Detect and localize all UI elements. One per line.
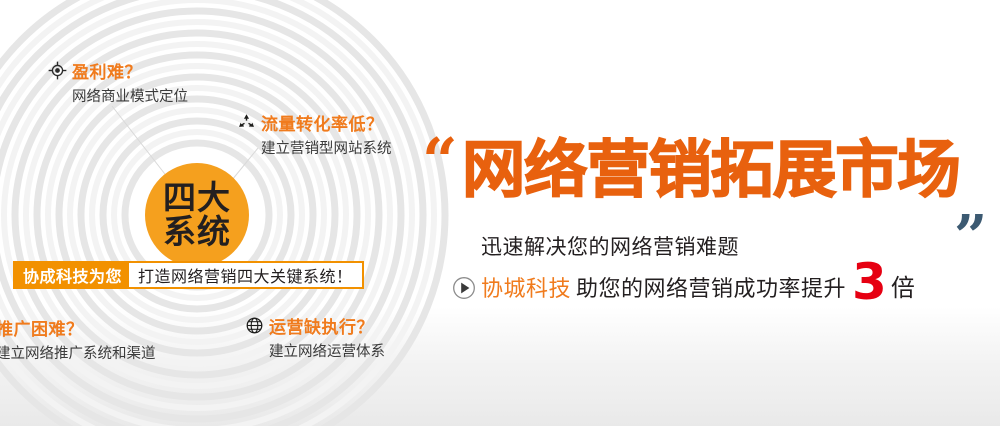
- quote-close-mark: „: [955, 174, 988, 232]
- headline-text: 网络营销拓展市场: [462, 139, 960, 201]
- node-profit-subtitle: 网络商业模式定位: [72, 85, 188, 106]
- node-profit-title: 盈利难？: [72, 58, 142, 83]
- subheadline-line2: 协城科技 助您的网络营销成功率提升 3 倍: [452, 262, 915, 303]
- play-circle-icon: [452, 276, 476, 300]
- node-operations: 运营缺执行？ 建立网络运营体系: [245, 313, 385, 361]
- core-circle: 四大 系统: [145, 163, 249, 267]
- node-promotion-head: 推广困难？: [0, 315, 156, 340]
- node-promotion-subtitle: 建立网络推广系统和渠道: [0, 342, 156, 363]
- headline-block: “ 网络营销拓展市场 „: [420, 134, 1000, 234]
- node-promotion-title: 推广困难？: [0, 315, 84, 340]
- node-conversion-subtitle: 建立营销型网站系统: [261, 137, 392, 158]
- core-circle-line2: 系统: [163, 215, 231, 249]
- node-promotion: 推广困难？ 建立网络推广系统和渠道: [0, 315, 156, 363]
- node-conversion-title: 流量转化率低？: [261, 110, 384, 135]
- tagline-strip: 协成科技为您 打造网络营销四大关键系统！: [13, 261, 364, 289]
- marketing-banner: 四大 系统 盈利难？ 网络商业模式定位: [0, 0, 1000, 426]
- core-circle-line1: 四大: [163, 181, 231, 215]
- node-profit: 盈利难？ 网络商业模式定位: [48, 58, 188, 106]
- multiplier-number: 3: [852, 262, 887, 303]
- subheadline-brand: 协城科技: [481, 271, 571, 303]
- tagline-strip-message: 打造网络营销四大关键系统！: [129, 263, 362, 287]
- tagline-strip-brand: 协成科技为您: [15, 263, 129, 287]
- subheadline-line2-text: 助您的网络营销成功率提升: [576, 271, 846, 303]
- quote-open-mark: “: [422, 130, 458, 192]
- node-conversion-head: 流量转化率低？: [237, 110, 392, 135]
- multiplier-unit: 倍: [891, 268, 915, 303]
- subheadline-line1: 迅速解决您的网络营销难题: [481, 231, 739, 261]
- node-operations-subtitle: 建立网络运营体系: [269, 340, 385, 361]
- node-conversion: 流量转化率低？ 建立营销型网站系统: [237, 110, 392, 158]
- recycle-icon: [237, 113, 256, 132]
- node-profit-head: 盈利难？: [48, 58, 188, 83]
- globe-icon: [245, 316, 264, 335]
- node-operations-head: 运营缺执行？: [245, 313, 385, 338]
- crosshair-target-icon: [48, 61, 67, 80]
- node-operations-title: 运营缺执行？: [269, 313, 374, 338]
